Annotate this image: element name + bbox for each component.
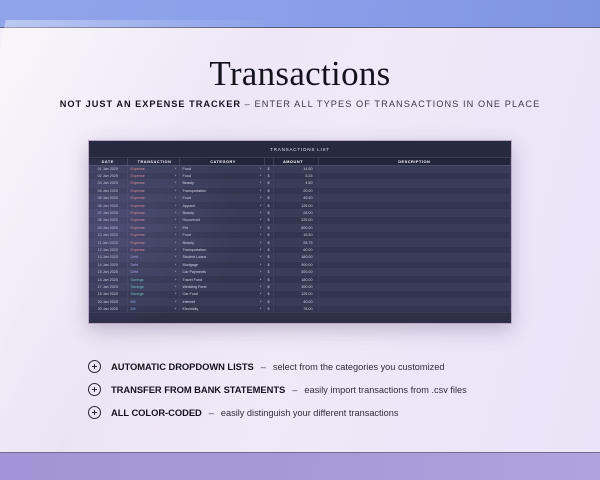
cell-description[interactable] xyxy=(318,232,511,239)
table-row[interactable]: 14 Jan 2025Debt▾Mortgage▾$900.00 xyxy=(89,261,511,268)
cell-date[interactable]: 18 Jan 2025 xyxy=(89,291,127,298)
table-header-row: DATE TRANSACTION CATEGORY AMOUNT DESCRIP… xyxy=(89,158,511,165)
cell-currency-symbol: $ xyxy=(264,209,273,216)
cell-date[interactable]: 02 Jan 2025 xyxy=(89,172,127,179)
cell-amount[interactable]: 180.00 xyxy=(273,254,318,261)
table-row[interactable]: 10 Jan 2025Expense▾Food▾$15.50 xyxy=(89,232,511,239)
cell-transaction-dropdown[interactable]: Savings▾ xyxy=(127,276,179,283)
chevron-down-icon[interactable]: ▾ xyxy=(260,285,262,288)
cell-transaction-dropdown[interactable]: Debt▾ xyxy=(127,254,179,261)
chevron-down-icon[interactable]: ▾ xyxy=(260,211,262,214)
cell-date[interactable]: 10 Jan 2025 xyxy=(89,232,127,239)
cell-amount[interactable]: 300.00 xyxy=(273,283,318,290)
chevron-down-icon[interactable]: ▾ xyxy=(175,285,177,288)
chevron-down-icon[interactable]: ▾ xyxy=(175,226,177,229)
transactions-spreadsheet[interactable]: TRANSACTIONS LIST DATE TRANSACTION CATEG… xyxy=(88,140,512,324)
cell-category-dropdown[interactable]: Student Loans▾ xyxy=(179,254,264,261)
cell-date[interactable]: 15 Jan 2025 xyxy=(89,268,127,275)
cell-amount[interactable]: 900.00 xyxy=(273,261,318,268)
category-label: Travel Fund xyxy=(183,278,203,282)
transaction-type-label: Savings xyxy=(131,285,144,289)
cell-transaction-dropdown[interactable]: Expense▾ xyxy=(127,195,179,202)
cell-category-dropdown[interactable]: Transportation▾ xyxy=(179,246,264,253)
feature-label: TRANSFER FROM BANK STATEMENTS xyxy=(111,384,285,395)
cell-date[interactable]: 01 Jan 2025 xyxy=(89,165,127,172)
category-label: Transportation xyxy=(183,248,207,252)
cell-amount[interactable]: 14.50 xyxy=(273,165,318,172)
category-label: Household xyxy=(183,218,201,222)
cell-category-dropdown[interactable]: Food▾ xyxy=(179,195,264,202)
transaction-type-label: Expense xyxy=(131,174,145,178)
transaction-type-label: Expense xyxy=(131,218,145,222)
category-label: Wedding Fund xyxy=(183,285,207,289)
table-row[interactable]: 01 Jan 2025Expense▾Food▾$14.50 xyxy=(89,165,511,172)
chevron-down-icon[interactable]: ▾ xyxy=(260,256,262,259)
category-label: Pet xyxy=(183,226,189,230)
cell-amount[interactable]: 5.25 xyxy=(273,172,318,179)
cell-currency-symbol: $ xyxy=(264,276,273,283)
category-label: Food xyxy=(183,196,191,200)
cell-currency-symbol: $ xyxy=(264,254,273,261)
cell-description[interactable] xyxy=(318,180,511,187)
cell-category-dropdown[interactable]: Transportation▾ xyxy=(179,187,264,194)
cell-amount[interactable]: 4.50 xyxy=(273,180,318,187)
transaction-type-label: Debt xyxy=(131,270,139,274)
cell-description[interactable] xyxy=(318,202,511,209)
table-row[interactable]: 09 Jan 2025Expense▾Pet▾$600.00 xyxy=(89,224,511,231)
cell-currency-symbol: $ xyxy=(264,239,273,246)
cell-currency-symbol: $ xyxy=(264,202,273,209)
subtitle-strong: NOT JUST AN EXPENSE TRACKER xyxy=(60,99,241,109)
table-row[interactable]: 20 Jan 2025Bill▾Electricity▾$78.00 xyxy=(89,305,511,312)
cell-currency-symbol: $ xyxy=(264,246,273,253)
transaction-type-label: Expense xyxy=(131,181,145,185)
category-label: Mortgage xyxy=(183,263,199,267)
subtitle-dash: – xyxy=(245,99,251,109)
cell-category-dropdown[interactable]: Food▾ xyxy=(179,172,264,179)
feature-dash: – xyxy=(209,408,214,418)
cell-date[interactable]: 03 Jan 2025 xyxy=(89,180,127,187)
cell-description[interactable] xyxy=(318,187,511,194)
table-row[interactable]: 04 Jan 2025Expense▾Transportation▾$20.00 xyxy=(89,187,511,194)
cell-transaction-dropdown[interactable]: Bill▾ xyxy=(127,298,179,305)
cell-category-dropdown[interactable]: Household▾ xyxy=(179,217,264,224)
plus-circle-icon xyxy=(88,360,101,373)
chevron-down-icon[interactable]: ▾ xyxy=(260,234,262,237)
chevron-down-icon[interactable]: ▾ xyxy=(260,197,262,200)
chevron-down-icon[interactable]: ▾ xyxy=(175,256,177,259)
column-header-currency xyxy=(264,158,273,165)
cell-currency-symbol: $ xyxy=(264,298,273,305)
table-row[interactable]: 15 Jan 2025Debt▾Car Payments▾$300.00 xyxy=(89,268,511,275)
chevron-down-icon[interactable]: ▾ xyxy=(175,263,177,266)
cell-category-dropdown[interactable]: Car Payments▾ xyxy=(179,268,264,275)
cell-amount[interactable]: 28.00 xyxy=(273,209,318,216)
cell-description[interactable] xyxy=(318,224,511,231)
chevron-down-icon[interactable]: ▾ xyxy=(260,219,262,222)
chevron-down-icon[interactable]: ▾ xyxy=(175,211,177,214)
transaction-type-label: Expense xyxy=(131,204,145,208)
category-label: Internet xyxy=(183,300,196,304)
cell-date[interactable]: 20 Jan 2025 xyxy=(89,298,127,305)
transaction-type-label: Expense xyxy=(131,196,145,200)
cell-amount[interactable]: 225.00 xyxy=(273,217,318,224)
category-label: Beauty xyxy=(183,211,194,215)
feature-description: easily distinguish your different transa… xyxy=(221,408,399,418)
category-label: Beauty xyxy=(183,181,194,185)
cell-description[interactable] xyxy=(318,298,511,305)
chevron-down-icon[interactable]: ▾ xyxy=(175,197,177,200)
cell-category-dropdown[interactable]: Beauty▾ xyxy=(179,239,264,246)
cell-date[interactable]: 05 Jan 2025 xyxy=(89,195,127,202)
table-row[interactable]: 20 Jan 2025Bill▾Internet▾$40.00 xyxy=(89,298,511,305)
cell-description[interactable] xyxy=(318,195,511,202)
chevron-down-icon[interactable]: ▾ xyxy=(260,182,262,185)
feature-description: select from the categories you customize… xyxy=(273,362,445,372)
bottom-accent-bar xyxy=(0,452,600,480)
top-accent-bar xyxy=(0,0,600,28)
cell-amount[interactable]: 600.00 xyxy=(273,224,318,231)
table-row[interactable]: 13 Jan 2025Debt▾Student Loans▾$180.00 xyxy=(89,254,511,261)
transaction-type-label: Savings xyxy=(131,292,144,296)
cell-description[interactable] xyxy=(318,165,511,172)
category-label: Car Fund xyxy=(183,292,198,296)
chevron-down-icon[interactable]: ▾ xyxy=(260,300,262,303)
cell-currency-symbol: $ xyxy=(264,291,273,298)
chevron-down-icon[interactable]: ▾ xyxy=(260,226,262,229)
cell-date[interactable]: 11 Jan 2025 xyxy=(89,239,127,246)
cell-amount[interactable]: 26.75 xyxy=(273,239,318,246)
chevron-down-icon[interactable]: ▾ xyxy=(175,219,177,222)
cell-date[interactable]: 06 Jan 2025 xyxy=(89,202,127,209)
feature-label: AUTOMATIC DROPDOWN LISTS xyxy=(111,361,254,372)
plus-circle-icon xyxy=(88,383,101,396)
cell-transaction-dropdown[interactable]: Expense▾ xyxy=(127,165,179,172)
slide-canvas: Transactions NOT JUST AN EXPENSE TRACKER… xyxy=(0,0,600,480)
cell-currency-symbol: $ xyxy=(264,172,273,179)
chevron-down-icon[interactable]: ▾ xyxy=(175,293,177,296)
cell-amount[interactable]: 180.00 xyxy=(273,276,318,283)
chevron-down-icon[interactable]: ▾ xyxy=(175,248,177,251)
category-label: Student Loans xyxy=(183,255,207,259)
column-header-description: DESCRIPTION xyxy=(318,158,511,165)
cell-amount[interactable]: 40.00 xyxy=(273,298,318,305)
cell-category-dropdown[interactable]: Wedding Fund▾ xyxy=(179,283,264,290)
table-row[interactable]: 07 Jan 2025Expense▾Beauty▾$28.00 xyxy=(89,209,511,216)
cell-category-dropdown[interactable]: Mortgage▾ xyxy=(179,261,264,268)
cell-category-dropdown[interactable]: Internet▾ xyxy=(179,298,264,305)
table-row[interactable]: 12 Jan 2025Expense▾Transportation▾$60.00 xyxy=(89,246,511,253)
table-row[interactable]: 17 Jan 2025Savings▾Wedding Fund▾$300.00 xyxy=(89,283,511,290)
cell-transaction-dropdown[interactable]: Expense▾ xyxy=(127,224,179,231)
transaction-type-label: Bill xyxy=(131,300,136,304)
chevron-down-icon[interactable]: ▾ xyxy=(175,270,177,273)
chevron-down-icon[interactable]: ▾ xyxy=(260,189,262,192)
cell-description[interactable] xyxy=(318,239,511,246)
chevron-down-icon[interactable]: ▾ xyxy=(260,270,262,273)
transaction-type-label: Debt xyxy=(131,263,139,267)
cell-description[interactable] xyxy=(318,209,511,216)
cell-transaction-dropdown[interactable]: Bill▾ xyxy=(127,305,179,312)
column-header-date: DATE xyxy=(89,158,127,165)
chevron-down-icon[interactable]: ▾ xyxy=(260,248,262,251)
chevron-down-icon[interactable]: ▾ xyxy=(260,263,262,266)
cell-description[interactable] xyxy=(318,261,511,268)
cell-category-dropdown[interactable]: Beauty▾ xyxy=(179,180,264,187)
transaction-type-label: Savings xyxy=(131,278,144,282)
table-row[interactable]: 02 Jan 2025Expense▾Food▾$5.25 xyxy=(89,172,511,179)
column-header-transaction: TRANSACTION xyxy=(127,158,179,165)
cell-amount[interactable]: 125.00 xyxy=(273,202,318,209)
chevron-down-icon[interactable]: ▾ xyxy=(175,307,177,310)
cell-description[interactable] xyxy=(318,305,511,312)
table-body: 01 Jan 2025Expense▾Food▾$14.5002 Jan 202… xyxy=(89,165,511,313)
transaction-type-label: Expense xyxy=(131,167,145,171)
cell-transaction-dropdown[interactable]: Expense▾ xyxy=(127,202,179,209)
cell-currency-symbol: $ xyxy=(264,283,273,290)
cell-date[interactable]: 20 Jan 2025 xyxy=(89,305,127,312)
cell-transaction-dropdown[interactable]: Expense▾ xyxy=(127,209,179,216)
cell-category-dropdown[interactable]: Electricity▾ xyxy=(179,305,264,312)
cell-transaction-dropdown[interactable]: Savings▾ xyxy=(127,291,179,298)
category-label: Transportation xyxy=(183,189,207,193)
cell-date[interactable]: 14 Jan 2025 xyxy=(89,261,127,268)
cell-transaction-dropdown[interactable]: Expense▾ xyxy=(127,232,179,239)
cell-description[interactable] xyxy=(318,283,511,290)
cell-description[interactable] xyxy=(318,254,511,261)
cell-amount[interactable]: 20.00 xyxy=(273,187,318,194)
cell-transaction-dropdown[interactable]: Expense▾ xyxy=(127,172,179,179)
feature-dash: – xyxy=(261,362,266,372)
chevron-down-icon[interactable]: ▾ xyxy=(175,234,177,237)
chevron-down-icon[interactable]: ▾ xyxy=(260,307,262,310)
feature-description: easily import transactions from .csv fil… xyxy=(304,385,466,395)
cell-amount[interactable]: 78.00 xyxy=(273,305,318,312)
page-subtitle: NOT JUST AN EXPENSE TRACKER – ENTER ALL … xyxy=(0,99,600,109)
feature-label: ALL COLOR-CODED xyxy=(111,407,202,418)
chevron-down-icon[interactable]: ▾ xyxy=(175,300,177,303)
chevron-down-icon[interactable]: ▾ xyxy=(175,278,177,281)
cell-category-dropdown[interactable]: Apparel▾ xyxy=(179,202,264,209)
feature-list: AUTOMATIC DROPDOWN LISTS–select from the… xyxy=(88,355,558,424)
table-row[interactable]: 06 Jan 2025Expense▾Apparel▾$125.00 xyxy=(89,202,511,209)
cell-description[interactable] xyxy=(318,246,511,253)
table-row[interactable]: 05 Jan 2025Expense▾Food▾$49.50 xyxy=(89,195,511,202)
category-label: Beauty xyxy=(183,241,194,245)
category-label: Food xyxy=(183,167,191,171)
cell-category-dropdown[interactable]: Food▾ xyxy=(179,165,264,172)
cell-category-dropdown[interactable]: Food▾ xyxy=(179,232,264,239)
cell-transaction-dropdown[interactable]: Debt▾ xyxy=(127,268,179,275)
chevron-down-icon[interactable]: ▾ xyxy=(260,293,262,296)
transaction-type-label: Expense xyxy=(131,233,145,237)
feature-item: ALL COLOR-CODED–easily distinguish your … xyxy=(88,401,558,424)
transaction-type-label: Debt xyxy=(131,255,139,259)
cell-date[interactable]: 07 Jan 2025 xyxy=(89,209,127,216)
transaction-type-label: Expense xyxy=(131,211,145,215)
cell-description[interactable] xyxy=(318,268,511,275)
cell-category-dropdown[interactable]: Car Fund▾ xyxy=(179,291,264,298)
chevron-down-icon[interactable]: ▾ xyxy=(175,204,177,207)
cell-transaction-dropdown[interactable]: Debt▾ xyxy=(127,261,179,268)
chevron-down-icon[interactable]: ▾ xyxy=(175,241,177,244)
cell-currency-symbol: $ xyxy=(264,224,273,231)
cell-category-dropdown[interactable]: Beauty▾ xyxy=(179,209,264,216)
chevron-down-icon[interactable]: ▾ xyxy=(175,182,177,185)
transaction-type-label: Expense xyxy=(131,241,145,245)
transaction-type-label: Expense xyxy=(131,189,145,193)
cell-transaction-dropdown[interactable]: Expense▾ xyxy=(127,217,179,224)
cell-date[interactable]: 04 Jan 2025 xyxy=(89,187,127,194)
chevron-down-icon[interactable]: ▾ xyxy=(175,174,177,177)
cell-transaction-dropdown[interactable]: Expense▾ xyxy=(127,239,179,246)
cell-description[interactable] xyxy=(318,172,511,179)
cell-date[interactable]: 09 Jan 2025 xyxy=(89,224,127,231)
cell-date[interactable]: 17 Jan 2025 xyxy=(89,283,127,290)
cell-transaction-dropdown[interactable]: Expense▾ xyxy=(127,246,179,253)
cell-date[interactable]: 12 Jan 2025 xyxy=(89,246,127,253)
cell-date[interactable]: 08 Jan 2025 xyxy=(89,217,127,224)
feature-item: TRANSFER FROM BANK STATEMENTS–easily imp… xyxy=(88,378,558,401)
transactions-table[interactable]: DATE TRANSACTION CATEGORY AMOUNT DESCRIP… xyxy=(89,158,511,313)
plus-circle-icon xyxy=(88,406,101,419)
subtitle-rest: ENTER ALL TYPES OF TRANSACTIONS IN ONE P… xyxy=(255,99,541,109)
cell-currency-symbol: $ xyxy=(264,165,273,172)
transaction-type-label: Expense xyxy=(131,248,145,252)
feature-item: AUTOMATIC DROPDOWN LISTS–select from the… xyxy=(88,355,558,378)
cell-date[interactable]: 16 Jan 2025 xyxy=(89,276,127,283)
cell-currency-symbol: $ xyxy=(264,187,273,194)
category-label: Car Payments xyxy=(183,270,206,274)
cell-date[interactable]: 13 Jan 2025 xyxy=(89,254,127,261)
page-title: Transactions xyxy=(0,54,600,94)
chevron-down-icon[interactable]: ▾ xyxy=(260,167,262,170)
cell-description[interactable] xyxy=(318,291,511,298)
chevron-down-icon[interactable]: ▾ xyxy=(175,167,177,170)
table-row[interactable]: 08 Jan 2025Expense▾Household▾$225.00 xyxy=(89,217,511,224)
cell-transaction-dropdown[interactable]: Expense▾ xyxy=(127,187,179,194)
cell-category-dropdown[interactable]: Pet▾ xyxy=(179,224,264,231)
table-row[interactable]: 16 Jan 2025Savings▾Travel Fund▾$180.00 xyxy=(89,276,511,283)
cell-amount[interactable]: 125.00 xyxy=(273,291,318,298)
cell-description[interactable] xyxy=(318,217,511,224)
cell-currency-symbol: $ xyxy=(264,261,273,268)
cell-currency-symbol: $ xyxy=(264,217,273,224)
transaction-type-label: Expense xyxy=(131,226,145,230)
chevron-down-icon[interactable]: ▾ xyxy=(175,189,177,192)
cell-currency-symbol: $ xyxy=(264,180,273,187)
cell-amount[interactable]: 60.00 xyxy=(273,246,318,253)
category-label: Electricity xyxy=(183,307,199,311)
cell-category-dropdown[interactable]: Travel Fund▾ xyxy=(179,276,264,283)
cell-transaction-dropdown[interactable]: Expense▾ xyxy=(127,180,179,187)
chevron-down-icon[interactable]: ▾ xyxy=(260,204,262,207)
cell-amount[interactable]: 300.00 xyxy=(273,268,318,275)
table-row[interactable]: 18 Jan 2025Savings▾Car Fund▾$125.00 xyxy=(89,291,511,298)
feature-dash: – xyxy=(292,385,297,395)
cell-transaction-dropdown[interactable]: Savings▾ xyxy=(127,283,179,290)
cell-currency-symbol: $ xyxy=(264,195,273,202)
cell-description[interactable] xyxy=(318,276,511,283)
cell-currency-symbol: $ xyxy=(264,268,273,275)
category-label: Food xyxy=(183,174,191,178)
category-label: Food xyxy=(183,233,191,237)
column-header-category: CATEGORY xyxy=(179,158,264,165)
column-header-amount: AMOUNT xyxy=(273,158,318,165)
sheet-title-bar: TRANSACTIONS LIST xyxy=(89,141,511,158)
transaction-type-label: Bill xyxy=(131,307,136,311)
cell-currency-symbol: $ xyxy=(264,305,273,312)
cell-amount[interactable]: 15.50 xyxy=(273,232,318,239)
chevron-down-icon[interactable]: ▾ xyxy=(260,241,262,244)
table-row[interactable]: 03 Jan 2025Expense▾Beauty▾$4.50 xyxy=(89,180,511,187)
cell-currency-symbol: $ xyxy=(264,232,273,239)
chevron-down-icon[interactable]: ▾ xyxy=(260,278,262,281)
table-row[interactable]: 11 Jan 2025Expense▾Beauty▾$26.75 xyxy=(89,239,511,246)
category-label: Apparel xyxy=(183,204,196,208)
cell-amount[interactable]: 49.50 xyxy=(273,195,318,202)
chevron-down-icon[interactable]: ▾ xyxy=(260,174,262,177)
